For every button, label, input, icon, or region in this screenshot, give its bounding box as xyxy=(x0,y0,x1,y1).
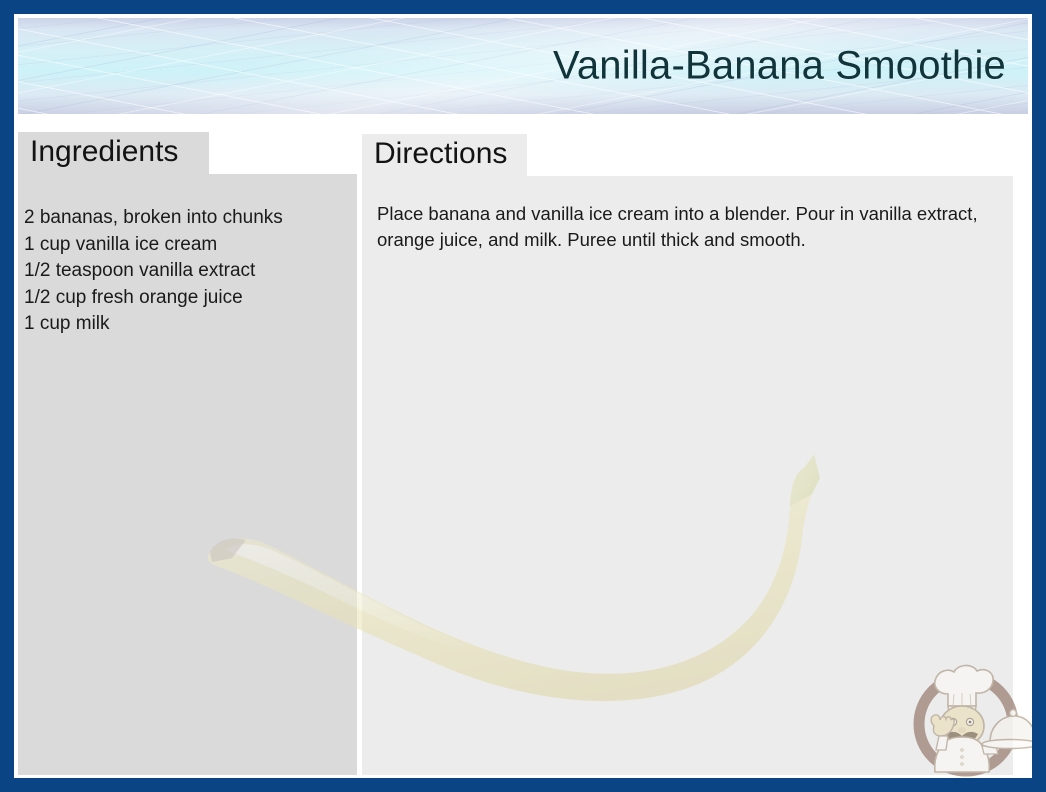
directions-text: Place banana and vanilla ice cream into … xyxy=(377,201,995,253)
slide-page: Vanilla-Banana Smoothie Ingredients 2 ba… xyxy=(14,14,1032,778)
list-item: 1/2 cup fresh orange juice xyxy=(24,285,349,312)
list-item: 1 cup vanilla ice cream xyxy=(24,232,349,259)
list-item: 1 cup milk xyxy=(24,311,349,338)
list-item: 2 bananas, broken into chunks xyxy=(24,205,349,232)
list-item: 1/2 teaspoon vanilla extract xyxy=(24,258,349,285)
directions-panel: Place banana and vanilla ice cream into … xyxy=(362,176,1013,775)
ingredients-panel: 2 bananas, broken into chunks 1 cup vani… xyxy=(18,174,357,775)
ingredients-heading: Ingredients xyxy=(18,132,209,174)
title-banner: Vanilla-Banana Smoothie xyxy=(18,18,1028,114)
ingredients-list: 2 bananas, broken into chunks 1 cup vani… xyxy=(24,205,349,338)
recipe-title: Vanilla-Banana Smoothie xyxy=(553,44,1006,89)
directions-heading: Directions xyxy=(362,134,527,176)
slide-frame: Vanilla-Banana Smoothie Ingredients 2 ba… xyxy=(0,0,1046,792)
